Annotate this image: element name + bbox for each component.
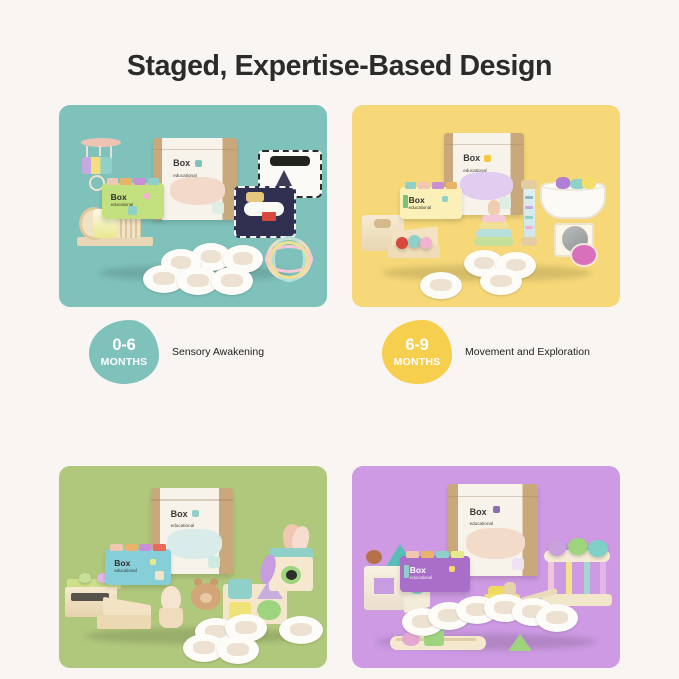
page-title: Staged, Expertise-Based Design [0, 50, 679, 83]
kit-brand-label: Box [171, 510, 188, 519]
card-tabs-icon [110, 544, 165, 551]
stage-card-0-6[interactable]: Box educational Box educational [59, 105, 327, 388]
stacking-rings-icon [474, 200, 514, 250]
tissue-box-toy-icon [263, 524, 321, 596]
card-brand-label: Box [410, 566, 426, 575]
green-card-box-icon: Box educational [102, 183, 164, 219]
card-subbrand-label: educational [114, 568, 136, 573]
card-tabs-icon [405, 182, 457, 189]
stage-label-row-0-6: 0-6 MONTHS Sensory Awakening [59, 316, 327, 388]
card-tabs-icon [107, 178, 159, 185]
card-subbrand-label: educational [410, 575, 432, 580]
yellow-card-box-icon: Box educational [400, 187, 462, 219]
kit-brand-label: Box [173, 159, 190, 168]
age-badge-6-9: 6-9 MONTHS [382, 320, 452, 384]
rain-timer-icon [520, 180, 538, 248]
stage-card-12-18[interactable]: Box educational [352, 466, 620, 679]
card-brand-label: Box [409, 196, 425, 205]
stage-photo-0-6: Box educational Box educational [59, 105, 327, 307]
wooden-bear-icon [191, 578, 221, 610]
round-flashcards-icon [402, 594, 582, 640]
kit-subbrand-label: educational [470, 521, 494, 526]
age-badge-0-6: 0-6 MONTHS [89, 320, 159, 384]
card-subbrand-label: educational [409, 205, 431, 210]
card-tabs-icon [406, 551, 465, 558]
age-unit: MONTHS [394, 357, 441, 368]
woven-basket-icon [540, 175, 606, 219]
age-range: 0-6 [112, 337, 135, 354]
kit-brand-label: Box [470, 508, 487, 517]
kit-brand-label: Box [463, 154, 480, 163]
round-flashcards-icon [420, 250, 548, 296]
round-flashcards-icon [137, 243, 283, 297]
blue-card-box-icon: Box educational [105, 549, 171, 585]
round-flashcards-icon [179, 614, 327, 662]
black-and-white-soft-cards-icon [234, 150, 324, 240]
stage-photo-12-18: Box educational [352, 466, 620, 668]
age-range: 6-9 [405, 337, 428, 354]
card-brand-label: Box [111, 193, 127, 202]
card-brand-label: Box [114, 559, 130, 568]
stage-grid: Box educational Box educational [59, 105, 620, 679]
kit-subbrand-label: educational [171, 523, 195, 528]
age-unit: MONTHS [101, 357, 148, 368]
stage-description-0-6: Sensory Awakening [172, 345, 264, 359]
stage-label-row-6-9: 6-9 MONTHS Movement and Exploration [352, 316, 620, 388]
purple-card-box-icon: Box educational [400, 556, 470, 592]
stage-photo-6-9: Box educational [352, 105, 620, 307]
stage-card-6-9[interactable]: Box educational [352, 105, 620, 388]
infographic-page: Staged, Expertise-Based Design [0, 0, 679, 679]
mirror-discs-icon [548, 223, 606, 267]
stage-photo-9-12: Box educational [59, 466, 327, 668]
stage-description-6-9: Movement and Exploration [465, 345, 590, 359]
kit-box-icon: Box educational [153, 138, 237, 220]
stage-card-9-12[interactable]: Box educational [59, 466, 327, 679]
